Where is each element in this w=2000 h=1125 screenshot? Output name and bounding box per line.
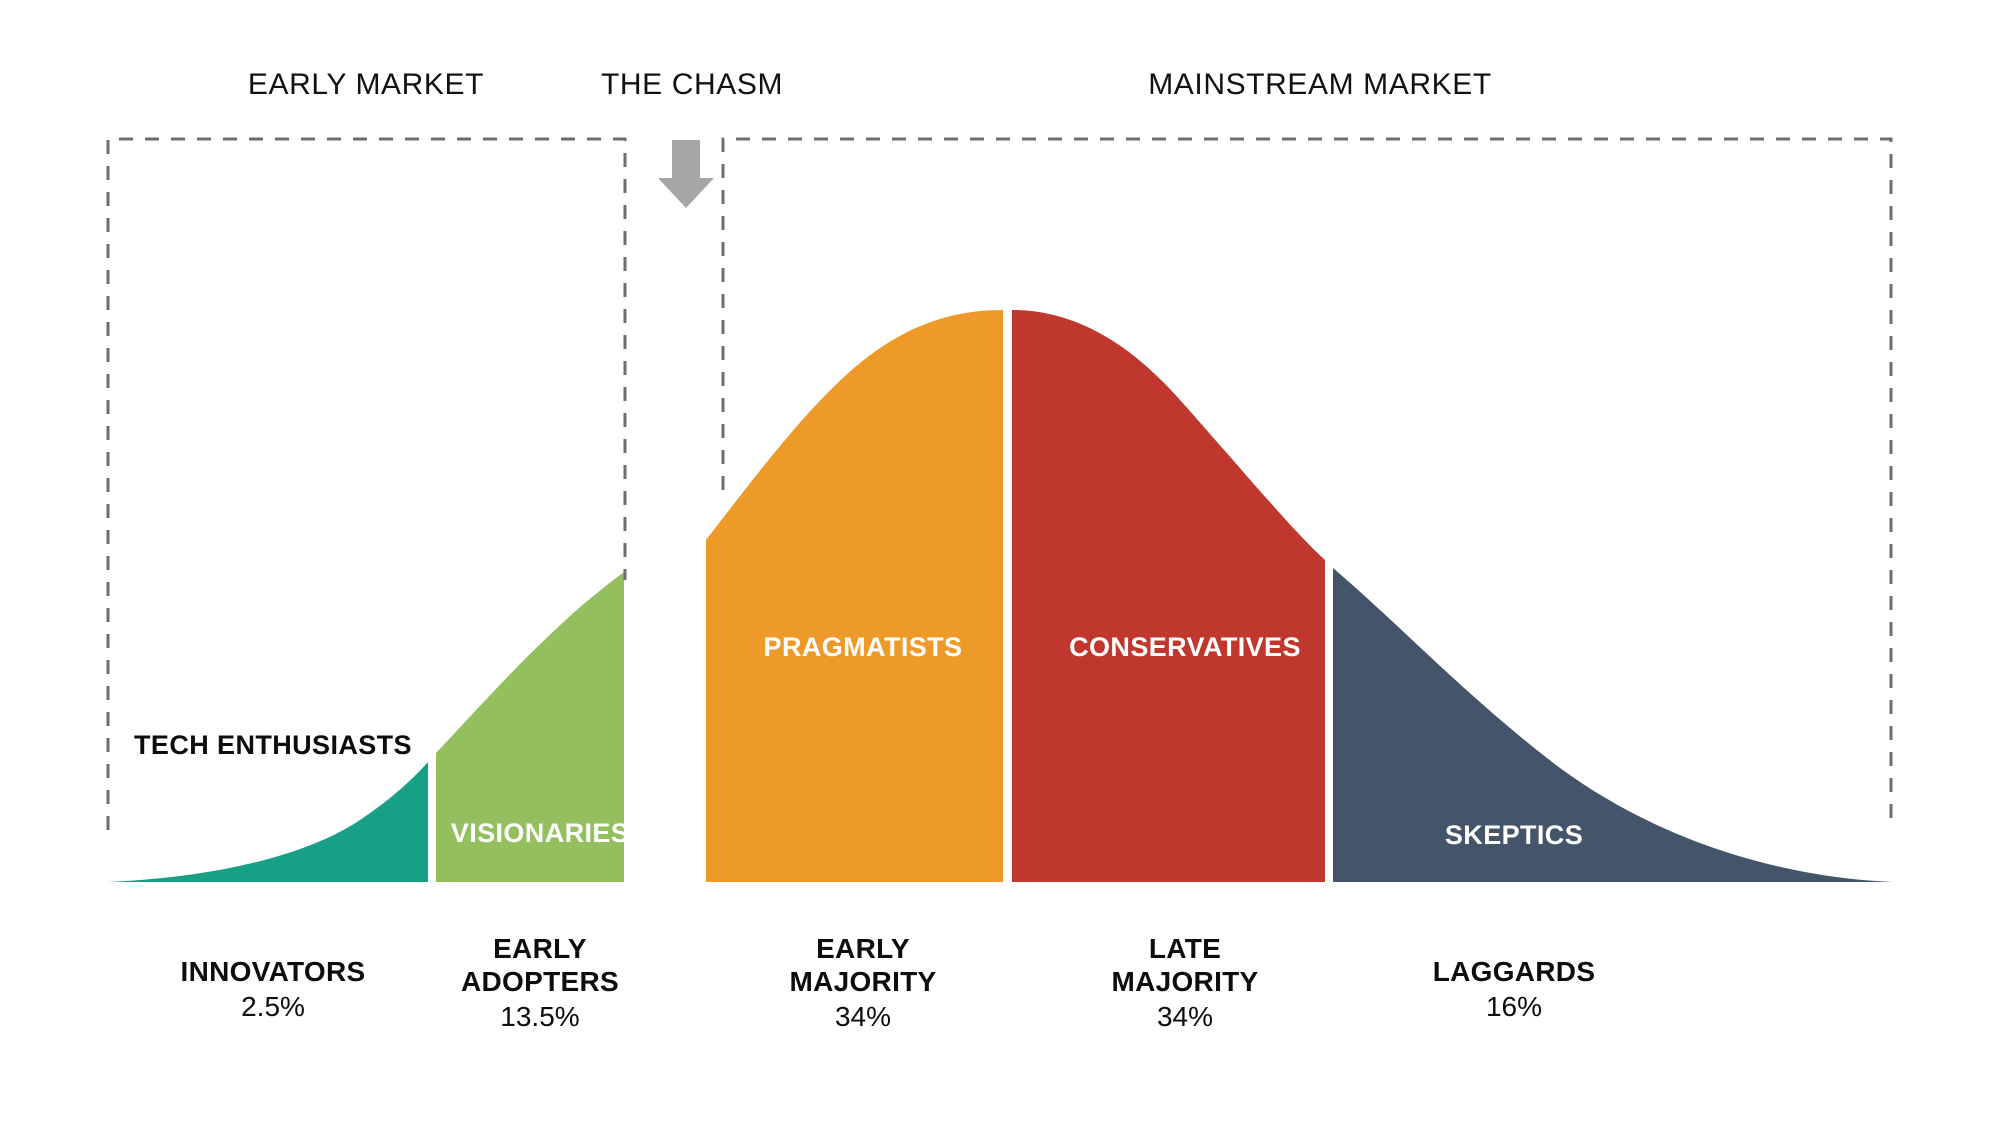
axis-label-percent: 13.5% (461, 1000, 619, 1034)
axis-label-percent: 34% (1111, 1000, 1258, 1034)
segment-inner-label-conservatives: CONSERVATIVES (1069, 632, 1301, 663)
axis-label-name: LAGGARDS (1433, 955, 1596, 988)
axis-label-early-adopters: EARLY ADOPTERS 13.5% (461, 932, 619, 1034)
segment-area-innovators (108, 762, 428, 882)
mainstream-market-label: MAINSTREAM MARKET (1148, 68, 1492, 102)
segment-area-late-majority (1012, 310, 1325, 882)
chasm-down-arrow-icon (658, 140, 714, 208)
axis-label-name: EARLY ADOPTERS (461, 932, 619, 998)
axis-label-percent: 16% (1433, 990, 1596, 1024)
axis-label-early-majority: EARLY MAJORITY 34% (789, 932, 936, 1034)
axis-label-late-majority: LATE MAJORITY 34% (1111, 932, 1258, 1034)
the-chasm-label: THE CHASM (601, 68, 783, 102)
axis-label-name: LATE MAJORITY (1111, 932, 1258, 998)
segment-inner-label-pragmatists: PRAGMATISTS (764, 632, 963, 663)
segment-inner-label-tech-enthusiasts: TECH ENTHUSIASTS (134, 730, 412, 761)
segment-area-laggards (1333, 568, 1893, 882)
segment-inner-label-visionaries: VISIONARIES (451, 818, 629, 849)
axis-label-percent: 2.5% (180, 990, 365, 1024)
axis-label-name: INNOVATORS (180, 955, 365, 988)
axis-label-innovators: INNOVATORS 2.5% (180, 955, 365, 1024)
adoption-lifecycle-figure: EARLY MARKET THE CHASM MAINSTREAM MARKET… (0, 0, 2000, 1125)
segment-area-early-majority (706, 310, 1003, 882)
early-market-label: EARLY MARKET (248, 68, 484, 102)
axis-label-percent: 34% (789, 1000, 936, 1034)
axis-label-name: EARLY MAJORITY (789, 932, 936, 998)
axis-label-laggards: LAGGARDS 16% (1433, 955, 1596, 1024)
segment-inner-label-skeptics: SKEPTICS (1445, 820, 1583, 851)
